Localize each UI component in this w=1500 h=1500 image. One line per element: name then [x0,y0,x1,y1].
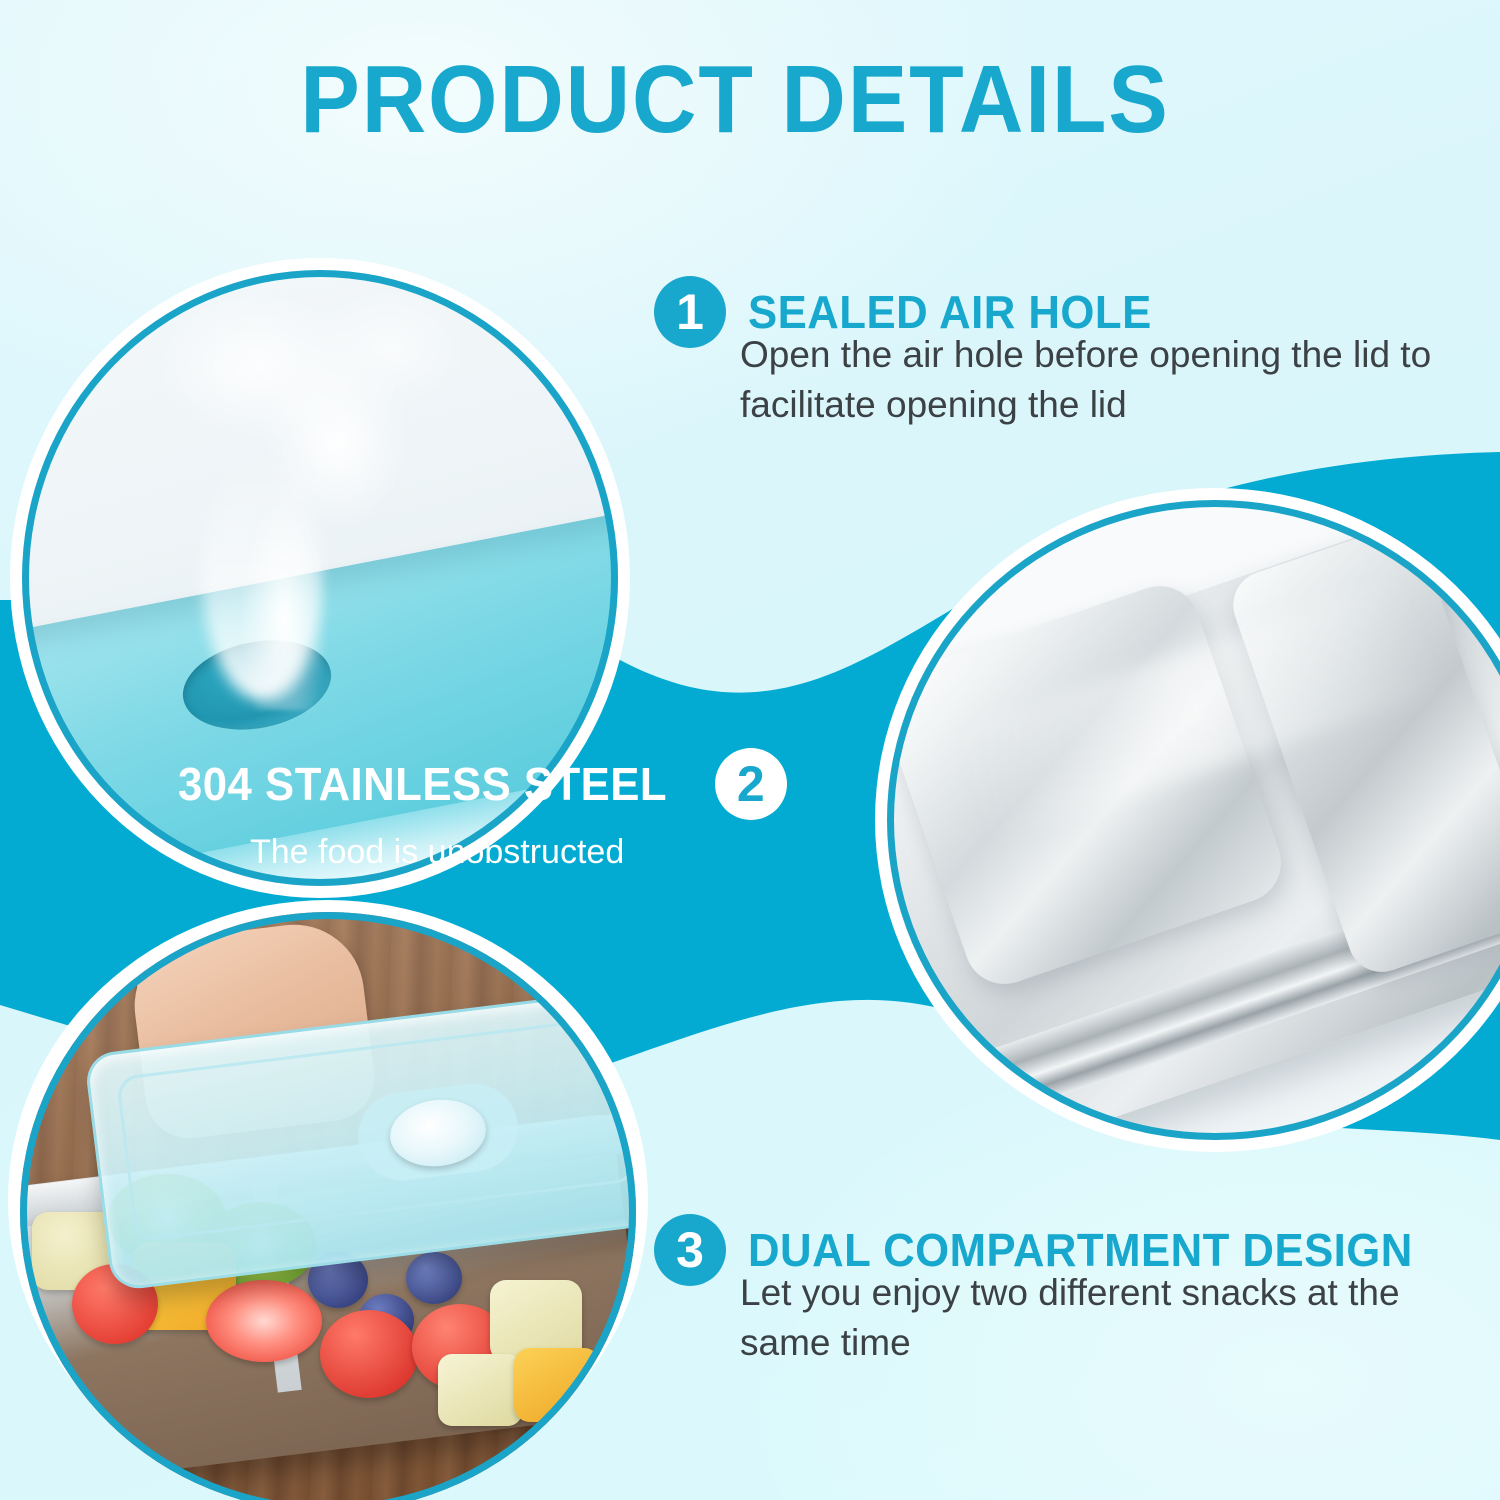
feature-2-body: The food is unobstructed [250,830,798,874]
photo-stainless-box [887,500,1500,1140]
feature-block-1: 1 SEALED AIR HOLE Open the air hole befo… [740,330,1440,429]
infographic-canvas: PRODUCT DETAILS 1 SEALED AIR HOLE Open t… [0,0,1500,1500]
feature-1-heading: SEALED AIR HOLE [748,285,1152,339]
fruit-melon-3 [438,1354,522,1426]
fruit-mango-2 [514,1348,600,1422]
steam-plume [132,290,462,710]
feature-2-heading-row: 304 STAINLESS STEEL 2 [178,748,798,820]
feature-3-badge: 3 [654,1214,726,1286]
feature-3-heading: DUAL COMPARTMENT DESIGN [748,1223,1413,1277]
photo-fruit-box-scene [20,912,636,1500]
page-title: PRODUCT DETAILS [51,52,1418,148]
fruit-blueberry-3 [406,1252,462,1304]
feature-1-badge: 1 [654,276,726,348]
feature-block-2: 304 STAINLESS STEEL 2 The food is unobst… [178,748,798,874]
fruit-strawberry-slice [206,1280,322,1362]
feature-2-heading: 304 STAINLESS STEEL [178,757,667,811]
feature-block-3: 3 DUAL COMPARTMENT DESIGN Let you enjoy … [740,1268,1440,1367]
feature-3-heading-row: 3 DUAL COMPARTMENT DESIGN [654,1214,1448,1286]
feature-1-heading-row: 1 SEALED AIR HOLE [654,276,1173,348]
fruit-strawberry-2 [320,1310,418,1398]
photo-fruit-box [20,912,636,1500]
photo-stainless-box-scene [887,500,1500,1140]
feature-2-badge: 2 [715,748,787,820]
